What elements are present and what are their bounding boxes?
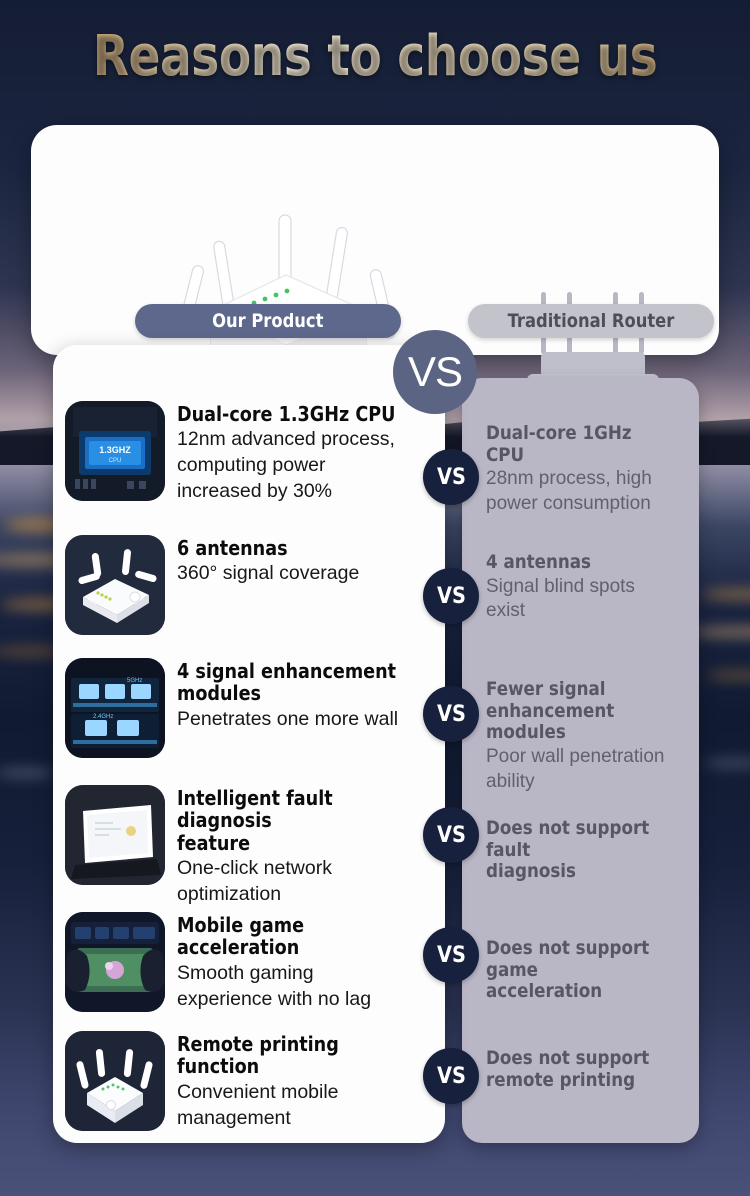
svg-text:CPU: CPU [109, 458, 122, 464]
feature-title: 6 antennas [177, 537, 337, 559]
page-title: Reasons to choose us [60, 24, 690, 89]
comparison-title: 4 antennas [486, 552, 666, 574]
traditional-router-pill[interactable]: Traditional Router [468, 304, 714, 338]
feature-description: Smooth gaming experience with no lag [177, 961, 437, 1013]
signal-module-board-icon: 5GHz 2.4GHz [65, 658, 165, 758]
feature-description: One-click network optimization [177, 856, 437, 908]
comparison-title: Dual-core 1GHz CPU [486, 423, 666, 466]
city-glow [704, 760, 750, 766]
comparison-description: Signal blind spots exist [486, 575, 691, 624]
feature-title: Remote printing function [177, 1033, 406, 1078]
our-product-pill[interactable]: Our Product [135, 304, 401, 338]
feature-description: 12nm advanced process, computing power i… [177, 427, 425, 505]
feature-description: Penetrates one more wall [177, 707, 426, 733]
feature-description: Convenient mobile management [177, 1080, 437, 1132]
city-glow [0, 770, 55, 776]
feature-title: 4 signal enhancement modules [177, 660, 396, 705]
comparison-row: 4 antennas Signal blind spots exist [486, 552, 691, 624]
feature-row: 6 antennas 360° signal coverage [65, 535, 437, 635]
comparison-title: Fewer signal enhancement modules [486, 679, 666, 744]
feature-row: Mobile game acceleration Smooth gaming e… [65, 912, 437, 1013]
vs-label: VS [437, 584, 466, 609]
feature-title: Intelligent fault diagnosis feature [177, 787, 406, 854]
city-glow [690, 628, 750, 636]
vs-badge: VS [423, 1048, 479, 1104]
vs-label: VS [437, 943, 466, 968]
laptop-diagnostics-icon [65, 785, 165, 885]
vs-label: VS [437, 823, 466, 848]
vs-label: VS [437, 465, 466, 490]
comparison-title: Does not support game acceleration [486, 938, 666, 1003]
vs-badge: VS [423, 807, 479, 863]
feature-row: 5GHz 2.4GHz 4 signal enhancement modules… [65, 658, 437, 758]
vs-label: VS [437, 1064, 466, 1089]
hero-vs-badge: VS [393, 330, 477, 414]
router-printing-icon [65, 1031, 165, 1131]
vs-badge: VS [423, 449, 479, 505]
feature-description: 360° signal coverage [177, 561, 359, 587]
comparison-row: Dual-core 1GHz CPU 28nm process, high po… [486, 423, 691, 517]
feature-title: Mobile game acceleration [177, 914, 406, 959]
city-glow [706, 672, 750, 679]
comparison-description: 28nm process, high power consumption [486, 467, 691, 516]
svg-text:5GHz: 5GHz [127, 678, 142, 684]
city-glow [700, 590, 750, 599]
comparison-row: Does not support game acceleration [486, 938, 691, 1004]
our-product-column: 1.3GHZ CPU Dual-core 1.3GHz CPU 12nm adv… [53, 345, 445, 1143]
svg-text:2.4GHz: 2.4GHz [93, 714, 113, 720]
mobile-gaming-icon [65, 912, 165, 1012]
comparison-title: Does not support remote printing [486, 1048, 666, 1091]
our-product-label: Our Product [212, 310, 323, 332]
comparison-title: Does not support fault diagnosis [486, 818, 666, 883]
six-antenna-router-icon [65, 535, 165, 635]
feature-row: Intelligent fault diagnosis feature One-… [65, 785, 437, 908]
hero-comparison-card: SPEEDFI VS Our Product Traditional Route… [31, 125, 719, 355]
traditional-router-label: Traditional Router [508, 310, 675, 332]
hero-vs-label: VS [408, 348, 462, 396]
comparison-row: Fewer signal enhancement modules Poor wa… [486, 679, 691, 794]
cpu-chip-icon: 1.3GHZ CPU [65, 401, 165, 501]
feature-title: Dual-core 1.3GHz CPU [177, 403, 395, 425]
comparison-description: Poor wall penetration ability [486, 745, 691, 794]
vs-badge: VS [423, 568, 479, 624]
feature-row: Remote printing function Convenient mobi… [65, 1031, 437, 1132]
comparison-row: Does not support fault diagnosis [486, 818, 691, 884]
vs-label: VS [437, 702, 466, 727]
vs-badge: VS [423, 686, 479, 742]
svg-text:1.3GHZ: 1.3GHZ [99, 445, 131, 455]
vs-badge: VS [423, 927, 479, 983]
feature-row: 1.3GHZ CPU Dual-core 1.3GHz CPU 12nm adv… [65, 401, 437, 505]
comparison-row: Does not support remote printing [486, 1048, 691, 1092]
